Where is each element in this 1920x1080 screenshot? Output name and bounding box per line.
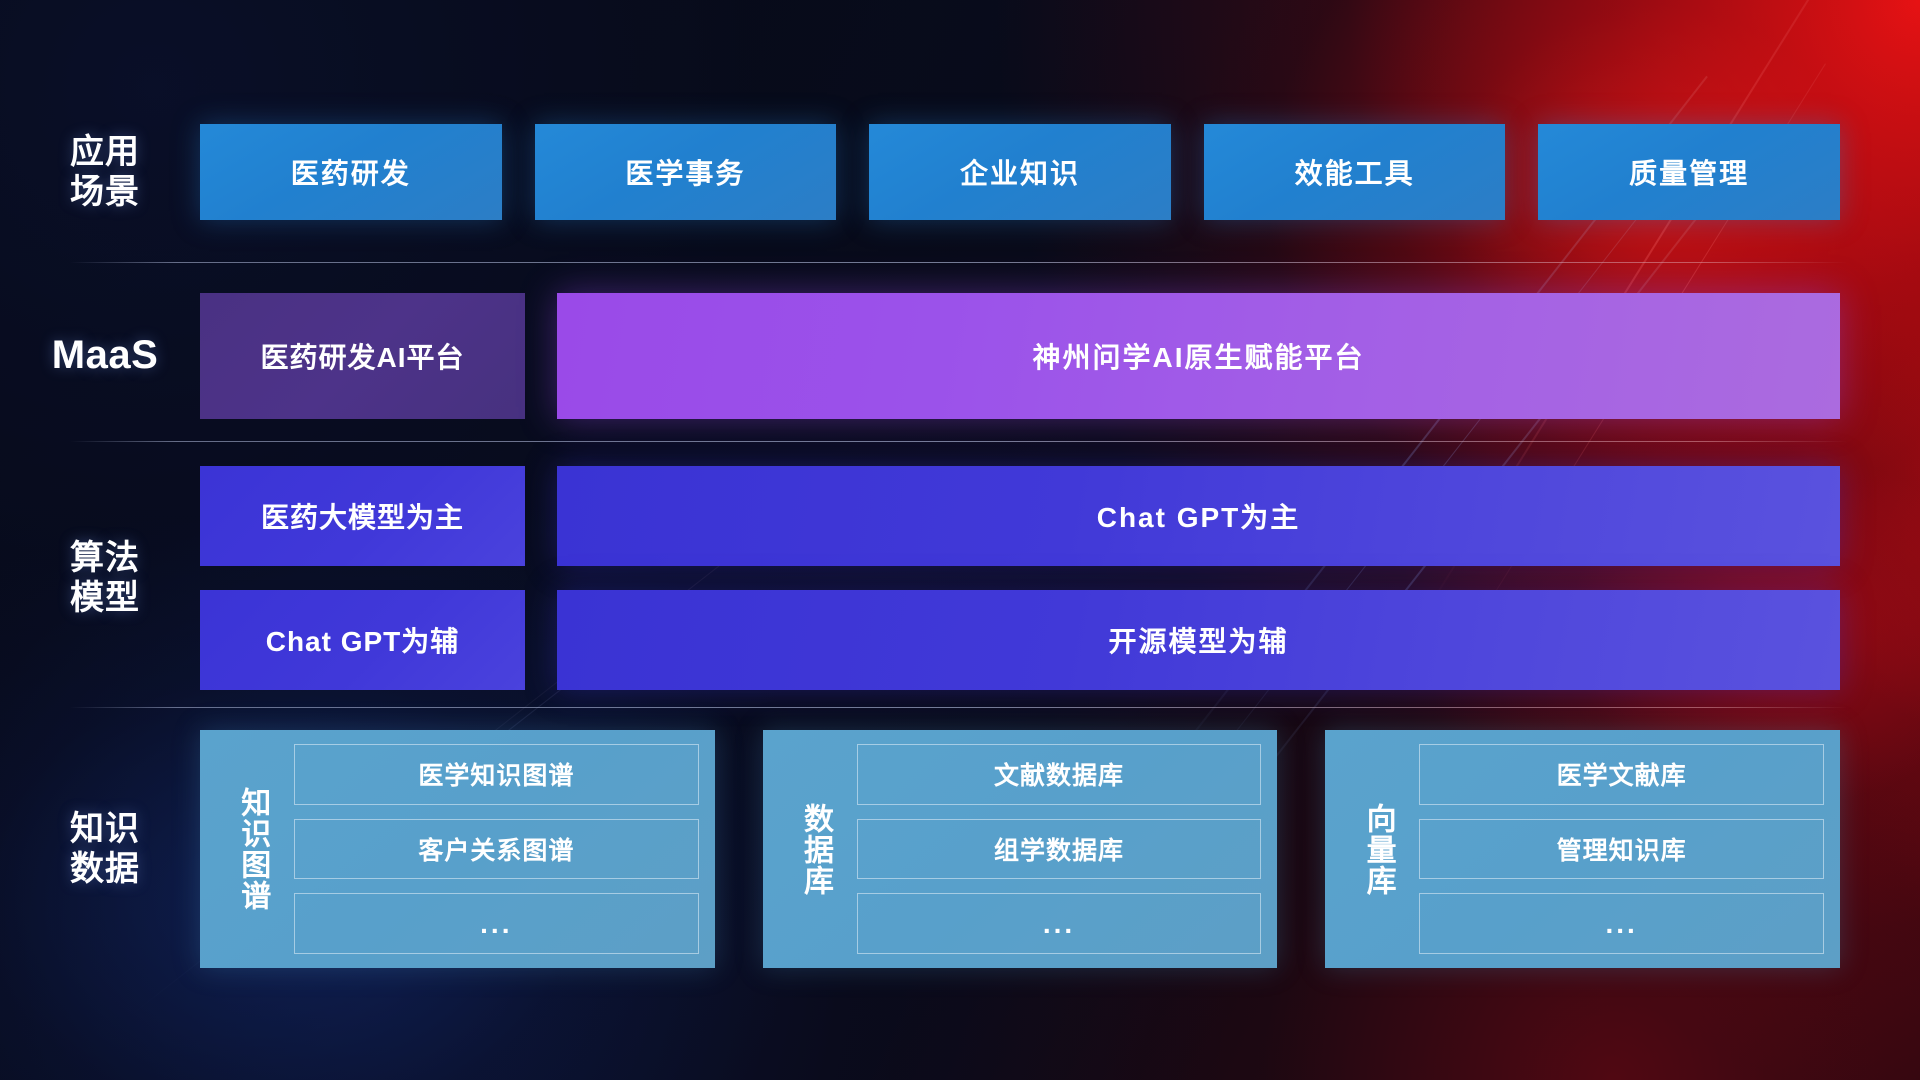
knowledge-item-list-knowledge-graph: 医学知识图谱 客户关系图谱 ... [284, 744, 699, 954]
row-body-algorithm-model: 医药大模型为主 Chat GPT为主 Chat GPT为辅 开源模型为辅 [200, 466, 1920, 690]
app-box-medical-affairs[interactable]: 医学事务 [535, 124, 837, 220]
knowledge-item-more-database[interactable]: ... [857, 893, 1262, 954]
knowledge-item-customer-relation-graph[interactable]: 客户关系图谱 [294, 819, 699, 880]
divider-2 [70, 441, 1848, 442]
divider-3 [70, 707, 1848, 708]
knowledge-group-database[interactable]: 数据库 文献数据库 组学数据库 ... [763, 730, 1278, 968]
knowledge-group-knowledge-graph[interactable]: 知识图谱 医学知识图谱 客户关系图谱 ... [200, 730, 715, 968]
algorithm-row-secondary: Chat GPT为辅 开源模型为辅 [200, 590, 1840, 690]
knowledge-item-medical-knowledge-graph[interactable]: 医学知识图谱 [294, 744, 699, 805]
knowledge-item-more-vector-store[interactable]: ... [1419, 893, 1824, 954]
app-box-enterprise-knowledge[interactable]: 企业知识 [869, 124, 1171, 220]
row-knowledge-data: 知识 数据 知识图谱 医学知识图谱 客户关系图谱 ... 数据库 [0, 730, 1920, 968]
knowledge-group-vector-store[interactable]: 向量库 医学文献库 管理知识库 ... [1325, 730, 1840, 968]
algo-box-chatgpt-primary[interactable]: Chat GPT为主 [557, 466, 1840, 566]
application-box-list: 医药研发 医学事务 企业知识 效能工具 质量管理 [200, 124, 1840, 220]
knowledge-item-list-database: 文献数据库 组学数据库 ... [847, 744, 1262, 954]
row-application-scenarios: 应用 场景 医药研发 医学事务 企业知识 效能工具 质量管理 [0, 124, 1920, 220]
knowledge-group-list: 知识图谱 医学知识图谱 客户关系图谱 ... 数据库 文献数据库 组学数据库 .… [200, 730, 1840, 968]
architecture-diagram-stage: 应用 场景 医药研发 医学事务 企业知识 效能工具 质量管理 MaaS 医药研发… [0, 0, 1920, 1080]
app-box-medicine-rd[interactable]: 医药研发 [200, 124, 502, 220]
algo-box-chatgpt-secondary[interactable]: Chat GPT为辅 [200, 590, 525, 690]
knowledge-item-medical-literature-store[interactable]: 医学文献库 [1419, 744, 1824, 805]
knowledge-group-title-database: 数据库 [783, 744, 847, 954]
row-body-maas: 医药研发AI平台 神州问学AI原生赋能平台 [200, 293, 1920, 419]
knowledge-group-title-vector-store: 向量库 [1345, 744, 1409, 954]
row-label-application-scenarios: 应用 场景 [0, 132, 200, 212]
maas-box-list: 医药研发AI平台 神州问学AI原生赋能平台 [200, 293, 1840, 419]
row-label-maas: MaaS [0, 332, 200, 379]
maas-box-shenzhou-wenxue-platform[interactable]: 神州问学AI原生赋能平台 [557, 293, 1840, 419]
algorithm-box-stack: 医药大模型为主 Chat GPT为主 Chat GPT为辅 开源模型为辅 [200, 466, 1840, 690]
row-body-knowledge-data: 知识图谱 医学知识图谱 客户关系图谱 ... 数据库 文献数据库 组学数据库 .… [200, 730, 1920, 968]
row-label-algorithm-model: 算法 模型 [0, 538, 200, 618]
row-maas: MaaS 医药研发AI平台 神州问学AI原生赋能平台 [0, 293, 1920, 419]
algo-box-pharma-llm-primary[interactable]: 医药大模型为主 [200, 466, 525, 566]
knowledge-item-omics-database[interactable]: 组学数据库 [857, 819, 1262, 880]
maas-box-pharma-ai-platform[interactable]: 医药研发AI平台 [200, 293, 525, 419]
row-algorithm-model: 算法 模型 医药大模型为主 Chat GPT为主 Chat GPT为辅 开源模型… [0, 466, 1920, 690]
row-label-knowledge-data: 知识 数据 [0, 809, 200, 889]
knowledge-item-list-vector-store: 医学文献库 管理知识库 ... [1409, 744, 1824, 954]
row-body-application-scenarios: 医药研发 医学事务 企业知识 效能工具 质量管理 [200, 124, 1920, 220]
knowledge-group-title-knowledge-graph: 知识图谱 [220, 744, 284, 954]
knowledge-item-literature-database[interactable]: 文献数据库 [857, 744, 1262, 805]
knowledge-item-management-knowledge-store[interactable]: 管理知识库 [1419, 819, 1824, 880]
knowledge-item-more-knowledge-graph[interactable]: ... [294, 893, 699, 954]
app-box-quality-management[interactable]: 质量管理 [1538, 124, 1840, 220]
app-box-efficiency-tools[interactable]: 效能工具 [1204, 124, 1506, 220]
divider-1 [70, 262, 1848, 263]
algo-box-opensource-secondary[interactable]: 开源模型为辅 [557, 590, 1840, 690]
algorithm-row-primary: 医药大模型为主 Chat GPT为主 [200, 466, 1840, 566]
